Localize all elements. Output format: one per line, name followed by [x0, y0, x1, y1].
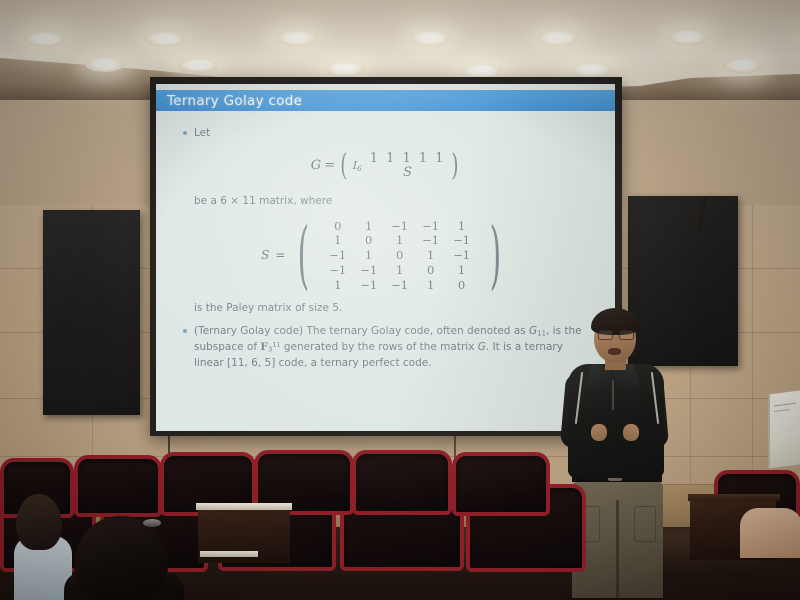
paley-matrix-row: −1−1101 [322, 263, 477, 278]
bullet-dot-icon [183, 131, 187, 135]
g11-subscript: 11 [537, 330, 546, 338]
desk-surface [688, 494, 780, 501]
matrix-g-symbol: G [478, 341, 486, 353]
paley-matrix-cell: −1 [353, 263, 384, 278]
right-paren-icon: ) [490, 233, 502, 279]
paley-matrix-cell: −1 [353, 278, 384, 293]
paley-matrix-cell: 1 [322, 278, 353, 293]
blackboard-right [628, 196, 738, 366]
audience-head [16, 494, 62, 550]
paley-matrix-cell: 1 [415, 278, 446, 293]
paley-matrix-row: −1101−1 [322, 248, 477, 263]
equation-equals: = [324, 157, 335, 176]
paley-matrix-cell: 0 [384, 248, 415, 263]
blackboard-left [43, 210, 140, 415]
field-superscript: 11 [272, 340, 280, 348]
paley-matrix-row: 101−1−1 [322, 233, 477, 248]
cargo-pocket [634, 506, 656, 542]
paley-matrix-row: 01−1−11 [322, 219, 477, 234]
paley-matrix-cell: −1 [446, 248, 477, 263]
paley-matrix-cell: −1 [322, 263, 353, 278]
paley-matrix-body: 01−1−11101−1−1−1101−1−1−11011−1−110 [322, 219, 477, 294]
ceiling-light [178, 58, 218, 73]
paley-matrix-cell: −1 [384, 219, 415, 234]
ceiling-light [723, 58, 763, 73]
speaker-hand-right [623, 424, 639, 441]
paley-matrix-cell: 1 [353, 219, 384, 234]
slide-body: Let G = ( I6 1 1 1 1 1 S [156, 111, 615, 431]
equation-generator-matrix: G = ( I6 1 1 1 1 1 S ) [156, 152, 615, 180]
s-block-symbol: S [403, 166, 412, 180]
field-symbol: F [260, 341, 267, 353]
left-paren-icon: ( [340, 154, 347, 178]
bullet-let-label: Let [194, 126, 210, 141]
paley-matrix-cell: 1 [322, 233, 353, 248]
projection-screen: Ternary Golay code Let G = ( I6 [156, 84, 615, 431]
ceiling-light [25, 32, 65, 47]
paley-matrix-cell: 0 [415, 263, 446, 278]
ceiling-light [538, 31, 578, 46]
equation-paley-matrix: S = ( 01−1−11101−1−1−1101−1−1−11011−1−11… [156, 219, 615, 294]
matrix-size-line: be a 6 × 11 matrix, where [156, 194, 615, 209]
ones-row: 1 1 1 1 1 [370, 152, 446, 166]
paley-matrix-cell: −1 [384, 278, 415, 293]
paley-matrix-cell: −1 [415, 233, 446, 248]
slide-title-bar: Ternary Golay code [156, 90, 615, 111]
golay-paragraph: (Ternary Golay code) The ternary Golay c… [194, 324, 593, 370]
paley-matrix-cell: 0 [353, 233, 384, 248]
paley-matrix-cell: 1 [415, 248, 446, 263]
bullet-let: Let [156, 126, 615, 141]
ceiling-light [145, 32, 185, 47]
paley-matrix-cell: 0 [322, 219, 353, 234]
seated-person-arm [740, 508, 800, 558]
wall-seam [752, 205, 753, 485]
paley-matrix-cell: 1 [384, 233, 415, 248]
left-paren-icon: ( [298, 233, 310, 279]
ceiling-light [410, 31, 450, 46]
paley-matrix-cell: 1 [446, 219, 477, 234]
equation-equals: = [275, 247, 285, 264]
shirt-placket [612, 380, 614, 410]
ceiling-light [85, 57, 125, 72]
identity-matrix-symbol: I6 [353, 158, 362, 174]
presentation-slide: Ternary Golay code Let G = ( I6 [156, 84, 615, 431]
paley-matrix-cell: −1 [415, 219, 446, 234]
paley-matrix-cell: 1 [446, 263, 477, 278]
lecture-hall-photo: Ternary Golay code Let G = ( I6 [0, 0, 800, 600]
paley-matrix-table: 01−1−11101−1−1−1101−1−1−11011−1−110 [322, 219, 477, 294]
paley-matrix-cell: 0 [446, 278, 477, 293]
ceiling-light [668, 30, 708, 45]
bullet-dot-icon [183, 329, 187, 333]
equation-lhs-S: S [261, 247, 269, 264]
paley-caption: is the Paley matrix of size 5. [156, 301, 615, 316]
g-block-stack: 1 1 1 1 1 S [370, 152, 446, 180]
ceiling-light [277, 31, 317, 46]
trouser-seam [616, 500, 619, 598]
equation-lhs-G: G [311, 157, 321, 176]
g11-symbol: G [529, 325, 537, 337]
paley-matrix-row: 1−1−110 [322, 278, 477, 293]
whiteboard [768, 390, 800, 469]
desk-surface [196, 503, 292, 510]
speaker-hand-left [591, 424, 607, 441]
desk-surface [200, 551, 258, 557]
ceiling-light [572, 63, 612, 78]
right-paren-icon: ) [451, 154, 458, 178]
eyeglass-lens [619, 330, 634, 340]
speaker-mouth [608, 348, 621, 355]
eyeglass-lens [598, 330, 613, 340]
paley-matrix-cell: −1 [322, 248, 353, 263]
object-on-seat [143, 519, 161, 527]
slide-title: Ternary Golay code [156, 93, 302, 109]
ceiling-light [325, 62, 365, 77]
paley-matrix-cell: 1 [384, 263, 415, 278]
paley-matrix-cell: 1 [353, 248, 384, 263]
bullet-golay: (Ternary Golay code) The ternary Golay c… [156, 324, 615, 370]
paley-matrix-cell: −1 [446, 233, 477, 248]
